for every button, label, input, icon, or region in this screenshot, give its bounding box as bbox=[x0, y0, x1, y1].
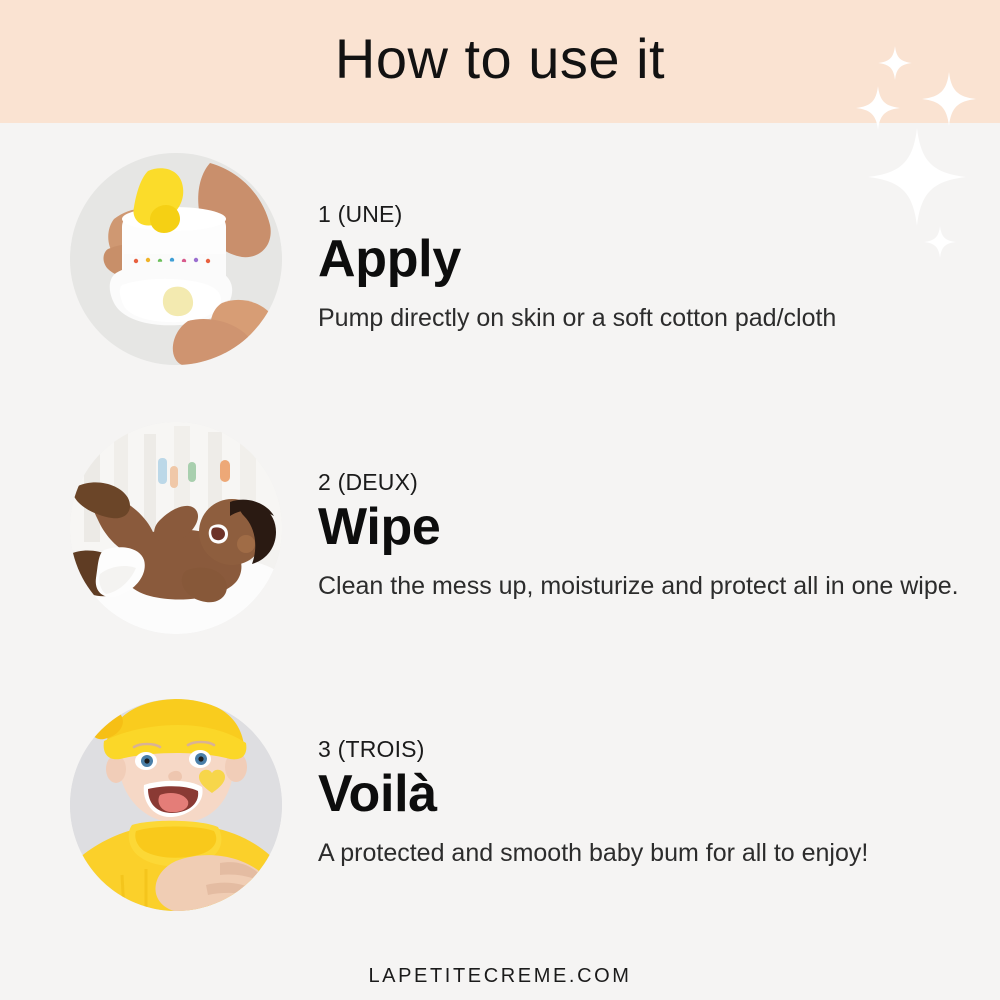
step-item-3: 3 (TROIS) Voilà A protected and smooth b… bbox=[0, 691, 1000, 961]
step-1-text: 1 (UNE) Apply Pump directly on skin or a… bbox=[318, 201, 963, 336]
step-item-2: 2 (DEUX) Wipe Clean the mess up, moistur… bbox=[0, 421, 1000, 691]
step-3-title: Voilà bbox=[318, 766, 963, 822]
step-2-description: Clean the mess up, moisturize and protec… bbox=[318, 569, 963, 605]
page-title: How to use it bbox=[0, 0, 1000, 123]
step-2-text: 2 (DEUX) Wipe Clean the mess up, moistur… bbox=[318, 469, 963, 604]
step-3-photo bbox=[70, 699, 282, 911]
step-1-photo: La Petite bbox=[70, 153, 282, 365]
step-3-index: 3 (TROIS) bbox=[318, 736, 963, 764]
step-2-index: 2 (DEUX) bbox=[318, 469, 963, 497]
step-item-1: La Petite 1 (UNE) Apply Pump dir bbox=[0, 151, 1000, 421]
step-2-photo bbox=[70, 422, 282, 634]
step-3-text: 3 (TROIS) Voilà A protected and smooth b… bbox=[318, 736, 963, 871]
how-to-use-infographic: How to use it bbox=[0, 0, 1000, 1000]
step-1-description: Pump directly on skin or a soft cotton p… bbox=[318, 301, 963, 337]
step-1-title: Apply bbox=[318, 231, 963, 287]
step-1-index: 1 (UNE) bbox=[318, 201, 963, 229]
step-3-description: A protected and smooth baby bum for all … bbox=[318, 836, 963, 872]
footer-website[interactable]: LAPETITECREME.COM bbox=[0, 965, 1000, 988]
step-2-title: Wipe bbox=[318, 499, 963, 555]
